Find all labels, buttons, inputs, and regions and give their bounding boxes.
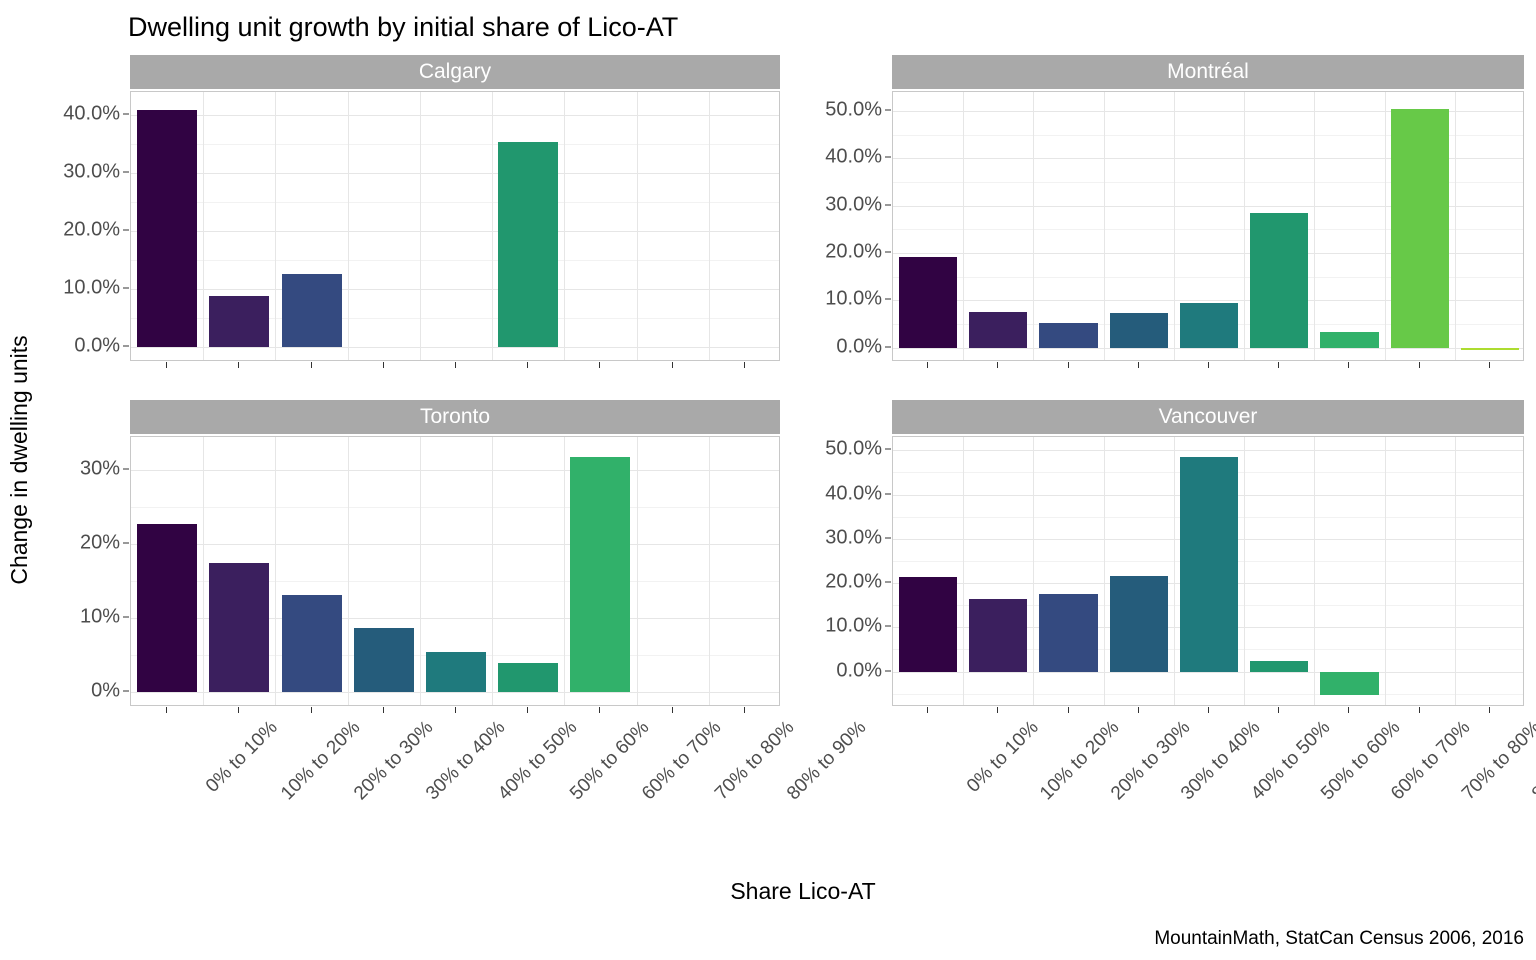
bar: [282, 274, 342, 348]
y-axis-tick-mark: [123, 114, 129, 115]
bar: [1039, 323, 1097, 348]
x-axis-tick-mark: [455, 707, 456, 713]
gridline-vertical: [275, 92, 276, 360]
y-axis: 0.0%10.0%20.0%30.0%40.0%: [0, 55, 130, 400]
bar: [1039, 594, 1097, 672]
x-axis-tick-mark: [238, 362, 239, 368]
gridline-major: [893, 672, 1523, 673]
plot-area: [892, 91, 1524, 361]
gridline-vertical: [1244, 437, 1245, 705]
y-axis: 0%10%20%30%: [0, 400, 130, 745]
facet-panel-toronto: Toronto0%10%20%30%0% to 10%10% to 20%20%…: [0, 400, 790, 745]
bar: [969, 599, 1027, 672]
x-axis-tick-mark: [1138, 362, 1139, 368]
y-axis-tick-label: 20.0%: [63, 219, 120, 242]
gridline-vertical: [420, 437, 421, 705]
gridline-vertical: [203, 92, 204, 360]
y-axis-tick-label: 0.0%: [74, 335, 120, 358]
gridline-major: [131, 115, 779, 116]
panel-strip-label: Vancouver: [892, 400, 1524, 434]
bar: [570, 457, 630, 692]
gridline-vertical: [492, 437, 493, 705]
bar: [1180, 457, 1238, 672]
facet-panel-vancouver: Vancouver0.0%10.0%20.0%30.0%40.0%50.0%0%…: [790, 400, 1536, 745]
gridline-major: [131, 173, 779, 174]
gridline-vertical: [1033, 92, 1034, 360]
y-axis-tick-mark: [123, 469, 129, 470]
gridline-vertical: [492, 92, 493, 360]
y-axis-tick-mark: [885, 204, 891, 205]
gridline-minor: [131, 260, 779, 261]
gridline-major: [131, 289, 779, 290]
bar: [1110, 313, 1168, 348]
x-axis-tick-mark: [527, 362, 528, 368]
x-axis-tick-mark: [311, 362, 312, 368]
x-axis-tick-mark: [1208, 707, 1209, 713]
plot-area: [892, 436, 1524, 706]
bar: [899, 257, 957, 348]
x-axis-tick-mark: [1138, 707, 1139, 713]
y-axis-tick-mark: [885, 109, 891, 110]
bar: [137, 110, 197, 347]
x-axis-tick-mark: [997, 707, 998, 713]
y-axis-tick-label: 30.0%: [63, 161, 120, 184]
y-axis-tick-label: 10%: [80, 606, 120, 629]
y-axis-tick-label: 30%: [80, 458, 120, 481]
x-axis-tick-label: 0% to 10%: [202, 717, 283, 798]
x-axis-tick-mark: [527, 707, 528, 713]
y-axis-tick-label: 20%: [80, 532, 120, 555]
gridline-major: [893, 348, 1523, 349]
x-axis-tick-mark: [166, 362, 167, 368]
plot-area: [130, 91, 780, 361]
y-axis-tick-mark: [885, 346, 891, 347]
x-axis-tick-mark: [1348, 707, 1349, 713]
y-axis-tick-mark: [123, 346, 129, 347]
y-axis-tick-mark: [885, 582, 891, 583]
y-axis: 0.0%10.0%20.0%30.0%40.0%50.0%: [790, 400, 892, 745]
y-axis-tick-mark: [885, 252, 891, 253]
bar: [1180, 303, 1238, 348]
gridline-vertical: [1174, 92, 1175, 360]
y-axis-tick-mark: [885, 449, 891, 450]
y-axis-tick-mark: [885, 299, 891, 300]
x-axis-tick-mark: [927, 362, 928, 368]
y-axis-tick-label: 0%: [91, 680, 120, 703]
bar: [137, 524, 197, 692]
gridline-minor: [131, 202, 779, 203]
gridline-vertical: [1385, 92, 1386, 360]
x-axis-tick-mark: [1068, 362, 1069, 368]
bar: [426, 652, 486, 693]
bar: [1110, 576, 1168, 672]
x-axis-tick-mark: [1068, 707, 1069, 713]
facet-panels: Calgary0.0%10.0%20.0%30.0%40.0%Montréal0…: [0, 55, 1536, 755]
y-axis-tick-label: 0.0%: [836, 335, 882, 358]
gridline-minor: [893, 694, 1523, 695]
panel-strip-label: Montréal: [892, 55, 1524, 89]
bar: [498, 663, 558, 693]
gridline-major: [893, 450, 1523, 451]
y-axis-tick-label: 10.0%: [825, 288, 882, 311]
gridline-vertical: [1455, 437, 1456, 705]
y-axis-tick-label: 20.0%: [825, 571, 882, 594]
bar: [354, 628, 414, 692]
gridline-vertical: [1104, 92, 1105, 360]
bar: [899, 577, 957, 671]
y-axis-tick-label: 40.0%: [825, 482, 882, 505]
gridline-vertical: [1455, 92, 1456, 360]
plot-area: [130, 436, 780, 706]
x-axis-tick-label: 0% to 10%: [963, 717, 1044, 798]
gridline-major: [131, 347, 779, 348]
y-axis-tick-mark: [885, 493, 891, 494]
gridline-major: [131, 544, 779, 545]
gridline-vertical: [1174, 437, 1175, 705]
bar: [1320, 672, 1378, 695]
gridline-vertical: [1104, 437, 1105, 705]
x-axis-tick-mark: [1278, 707, 1279, 713]
bar: [1250, 661, 1308, 672]
page-title: Dwelling unit growth by initial share of…: [128, 12, 678, 43]
x-axis-tick-mark: [927, 707, 928, 713]
y-axis-tick-mark: [123, 691, 129, 692]
y-axis-tick-label: 50.0%: [825, 98, 882, 121]
gridline-vertical: [1385, 437, 1386, 705]
bar: [969, 312, 1027, 348]
bar: [498, 142, 558, 348]
y-axis-tick-mark: [123, 617, 129, 618]
x-axis-tick-mark: [1489, 362, 1490, 368]
x-axis-tick-mark: [672, 707, 673, 713]
gridline-vertical: [348, 437, 349, 705]
y-axis-tick-label: 10.0%: [63, 277, 120, 300]
x-axis-tick-mark: [744, 707, 745, 713]
facet-panel-calgary: Calgary0.0%10.0%20.0%30.0%40.0%: [0, 55, 790, 400]
bar: [1461, 348, 1519, 350]
gridline-vertical: [963, 437, 964, 705]
x-axis-tick-mark: [238, 707, 239, 713]
y-axis-tick-mark: [885, 157, 891, 158]
y-axis-tick-label: 30.0%: [825, 193, 882, 216]
gridline-vertical: [203, 437, 204, 705]
gridline-vertical: [1314, 92, 1315, 360]
y-axis-tick-mark: [123, 288, 129, 289]
x-axis-tick-mark: [383, 707, 384, 713]
gridline-major: [131, 470, 779, 471]
x-axis-tick-mark: [311, 707, 312, 713]
x-axis-tick-mark: [997, 362, 998, 368]
gridline-vertical: [1244, 92, 1245, 360]
x-axis-tick-mark: [1489, 707, 1490, 713]
x-axis-tick-mark: [1419, 707, 1420, 713]
y-axis-tick-mark: [123, 543, 129, 544]
facet-panel-montral: Montréal0.0%10.0%20.0%30.0%40.0%50.0%: [790, 55, 1536, 400]
x-axis-tick-mark: [1278, 362, 1279, 368]
gridline-vertical: [963, 92, 964, 360]
x-axis-tick-mark: [599, 707, 600, 713]
y-axis-tick-mark: [885, 537, 891, 538]
gridline-vertical: [1314, 437, 1315, 705]
y-axis-tick-mark: [123, 172, 129, 173]
x-axis-tick-mark: [1208, 362, 1209, 368]
gridline-vertical: [709, 437, 710, 705]
gridline-minor: [131, 507, 779, 508]
y-axis-tick-label: 10.0%: [825, 615, 882, 638]
gridline-vertical: [564, 437, 565, 705]
gridline-vertical: [637, 437, 638, 705]
y-axis-tick-mark: [885, 670, 891, 671]
gridline-major: [131, 692, 779, 693]
y-axis-tick-mark: [123, 230, 129, 231]
panel-strip-label: Toronto: [130, 400, 780, 434]
chart-figure: Dwelling unit growth by initial share of…: [0, 0, 1536, 960]
bar: [1320, 332, 1378, 348]
x-axis-tick-mark: [1419, 362, 1420, 368]
bar: [1250, 213, 1308, 348]
gridline-vertical: [564, 92, 565, 360]
y-axis: 0.0%10.0%20.0%30.0%40.0%50.0%: [790, 55, 892, 400]
gridline-vertical: [637, 92, 638, 360]
gridline-minor: [131, 144, 779, 145]
x-axis-tick-mark: [744, 362, 745, 368]
gridline-vertical: [709, 92, 710, 360]
y-axis-tick-label: 0.0%: [836, 659, 882, 682]
x-axis-tick-mark: [599, 362, 600, 368]
bar: [209, 563, 269, 692]
gridline-major: [131, 231, 779, 232]
gridline-vertical: [420, 92, 421, 360]
bar: [1391, 109, 1449, 348]
gridline-vertical: [348, 92, 349, 360]
x-axis-tick-mark: [1348, 362, 1349, 368]
x-axis-tick-mark: [383, 362, 384, 368]
y-axis-tick-label: 50.0%: [825, 438, 882, 461]
gridline-vertical: [275, 437, 276, 705]
y-axis-tick-label: 30.0%: [825, 526, 882, 549]
bar: [282, 595, 342, 692]
gridline-vertical: [1033, 437, 1034, 705]
y-axis-tick-label: 40.0%: [63, 103, 120, 126]
x-axis-tick-mark: [455, 362, 456, 368]
y-axis-tick-label: 40.0%: [825, 146, 882, 169]
bar: [209, 296, 269, 347]
figure-caption: MountainMath, StatCan Census 2006, 2016: [1154, 928, 1524, 950]
x-axis-title-text: Share Lico-AT: [730, 878, 875, 904]
x-axis-tick-mark: [672, 362, 673, 368]
y-axis-tick-label: 20.0%: [825, 241, 882, 264]
y-axis-tick-mark: [885, 626, 891, 627]
panel-strip-label: Calgary: [130, 55, 780, 89]
x-axis-title: Share Lico-AT: [0, 878, 1536, 905]
x-axis-tick-mark: [166, 707, 167, 713]
